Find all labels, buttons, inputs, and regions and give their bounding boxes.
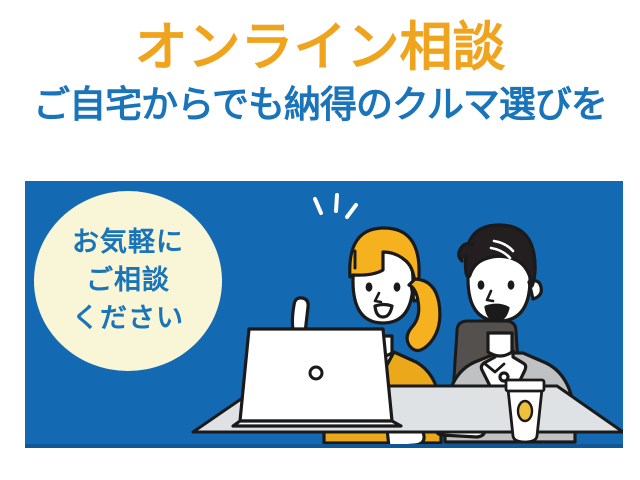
- sparkle-marks: [315, 195, 356, 217]
- online-consultation-banner: オンライン相談 ご自宅からでも納得のクルマ選びを: [0, 0, 640, 480]
- coffee-cup: [506, 380, 544, 442]
- laptop: [233, 329, 401, 426]
- badge-line-2: ご相談: [86, 262, 170, 300]
- badge-line-3: ください: [72, 300, 184, 338]
- badge-line-1: お気軽に: [72, 224, 184, 262]
- page-subtitle: ご自宅からでも納得のクルマ選びを: [0, 82, 640, 128]
- page-title: オンライン相談: [0, 18, 640, 78]
- header-text-block: オンライン相談 ご自宅からでも納得のクルマ選びを: [0, 18, 640, 128]
- illustration-panel: お気軽に ご相談 ください: [25, 181, 623, 448]
- status-badge: お気軽に ご相談 ください: [34, 191, 222, 371]
- panel-bottom-divider: [25, 444, 623, 448]
